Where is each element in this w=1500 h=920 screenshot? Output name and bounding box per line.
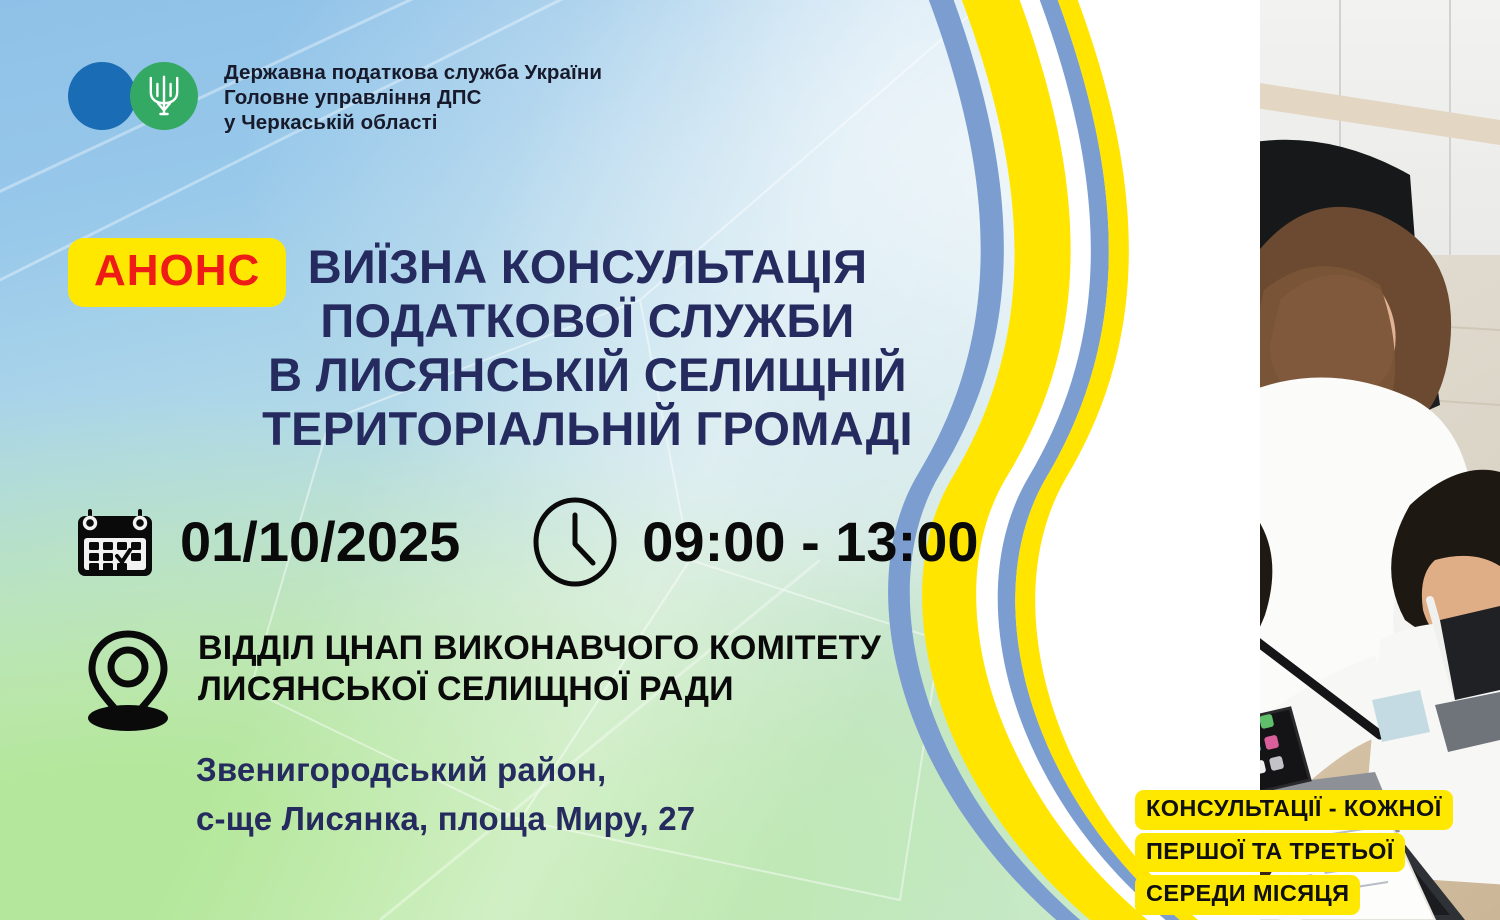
decorative-wave-ribbons xyxy=(830,0,1260,920)
headline-line-4: ТЕРИТОРІАЛЬНІЙ ГРОМАДІ xyxy=(200,402,975,456)
trident-icon xyxy=(146,72,182,120)
address-line-1: Звенигородський район, xyxy=(196,745,695,794)
logo-blue-circle xyxy=(68,62,136,130)
event-date: 01/10/2025 xyxy=(72,499,460,585)
headline-line-1: ВИЇЗНА КОНСУЛЬТАЦІЯ xyxy=(200,240,975,294)
brand-line-1: Державна податкова служба України xyxy=(224,60,602,85)
brand-line-2: Головне управління ДПС xyxy=(224,85,602,110)
event-time: 09:00 - 13:00 xyxy=(530,497,978,587)
brand-line-3: у Черкаській області xyxy=(224,110,602,135)
map-pin-icon xyxy=(80,628,176,732)
schedule-note-line-3: СЕРЕДИ МІСЯЦЯ xyxy=(1135,875,1360,915)
address-line-2: с-ще Лисянка, площа Миру, 27 xyxy=(196,794,695,843)
venue-line-2: ЛИСЯНСЬКОЇ СЕЛИЩНОЇ РАДИ xyxy=(198,669,881,710)
event-venue: ВІДДІЛ ЦНАП ВИКОНАВЧОГО КОМІТЕТУ ЛИСЯНСЬ… xyxy=(80,628,881,732)
schedule-note: КОНСУЛЬТАЦІЇ - КОЖНОЇ ПЕРШОЇ ТА ТРЕТЬОЇ … xyxy=(1135,790,1495,918)
calendar-icon xyxy=(72,499,158,585)
headline-line-3: В ЛИСЯНСЬКІЙ СЕЛИЩНІЙ xyxy=(200,348,975,402)
event-time-text: 09:00 - 13:00 xyxy=(642,514,978,570)
venue-line-1: ВІДДІЛ ЦНАП ВИКОНАВЧОГО КОМІТЕТУ xyxy=(198,628,881,669)
venue-text: ВІДДІЛ ЦНАП ВИКОНАВЧОГО КОМІТЕТУ ЛИСЯНСЬ… xyxy=(198,628,881,710)
event-date-text: 01/10/2025 xyxy=(180,514,460,570)
brand-text: Державна податкова служба України Головн… xyxy=(224,60,602,135)
schedule-note-line-2: ПЕРШОЇ ТА ТРЕТЬОЇ xyxy=(1135,833,1405,873)
page-title: ВИЇЗНА КОНСУЛЬТАЦІЯ ПОДАТКОВОЇ СЛУЖБИ В … xyxy=(200,240,975,456)
brand-block: Державна податкова служба України Головн… xyxy=(68,60,602,135)
clock-icon xyxy=(530,497,620,587)
agency-logo xyxy=(68,62,208,134)
event-address: Звенигородський район, с-ще Лисянка, пло… xyxy=(196,745,695,843)
poster-canvas: Державна податкова служба України Головн… xyxy=(0,0,1500,920)
schedule-note-line-1: КОНСУЛЬТАЦІЇ - КОЖНОЇ xyxy=(1135,790,1453,830)
event-datetime-row: 01/10/2025 09:00 - 13:00 xyxy=(72,497,979,587)
headline-line-2: ПОДАТКОВОЇ СЛУЖБИ xyxy=(200,294,975,348)
